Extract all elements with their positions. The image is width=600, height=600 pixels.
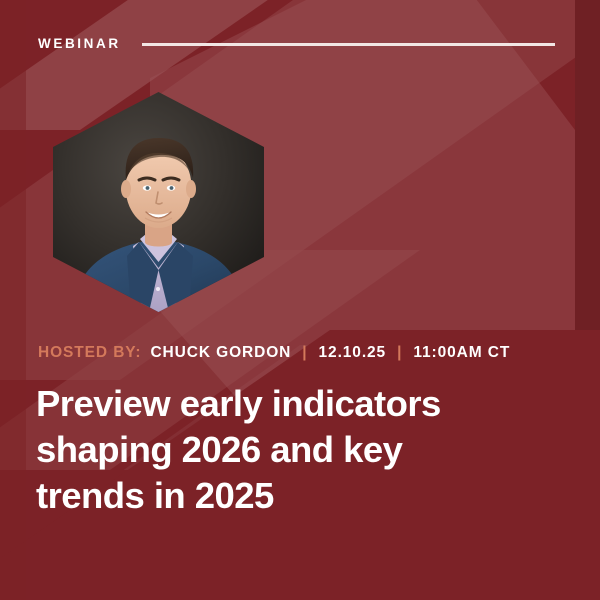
horizontal-rule-icon <box>142 43 555 46</box>
webinar-time: 11:00AM CT <box>413 345 510 361</box>
eyebrow-label: WEBINAR <box>38 37 121 51</box>
headline-line-2: shaping 2026 and key <box>36 427 536 473</box>
webinar-promo-card: WEBINAR <box>0 0 600 600</box>
speaker-portrait <box>53 92 264 312</box>
separator-icon: | <box>291 345 318 361</box>
headline-line-3: trends in 2025 <box>36 473 536 519</box>
separator-icon: | <box>386 345 413 361</box>
headline: Preview early indicators shaping 2026 an… <box>36 381 536 518</box>
meta-line: HOSTED BY: CHUCK GORDON | 12.10.25 | 11:… <box>38 345 510 361</box>
header-row: WEBINAR <box>38 32 562 56</box>
headline-line-1: Preview early indicators <box>36 381 536 427</box>
webinar-date: 12.10.25 <box>319 345 387 361</box>
hosted-by-label: HOSTED BY: <box>38 345 150 361</box>
left-vertical-band <box>0 0 26 600</box>
speaker-name: CHUCK GORDON <box>150 345 291 361</box>
